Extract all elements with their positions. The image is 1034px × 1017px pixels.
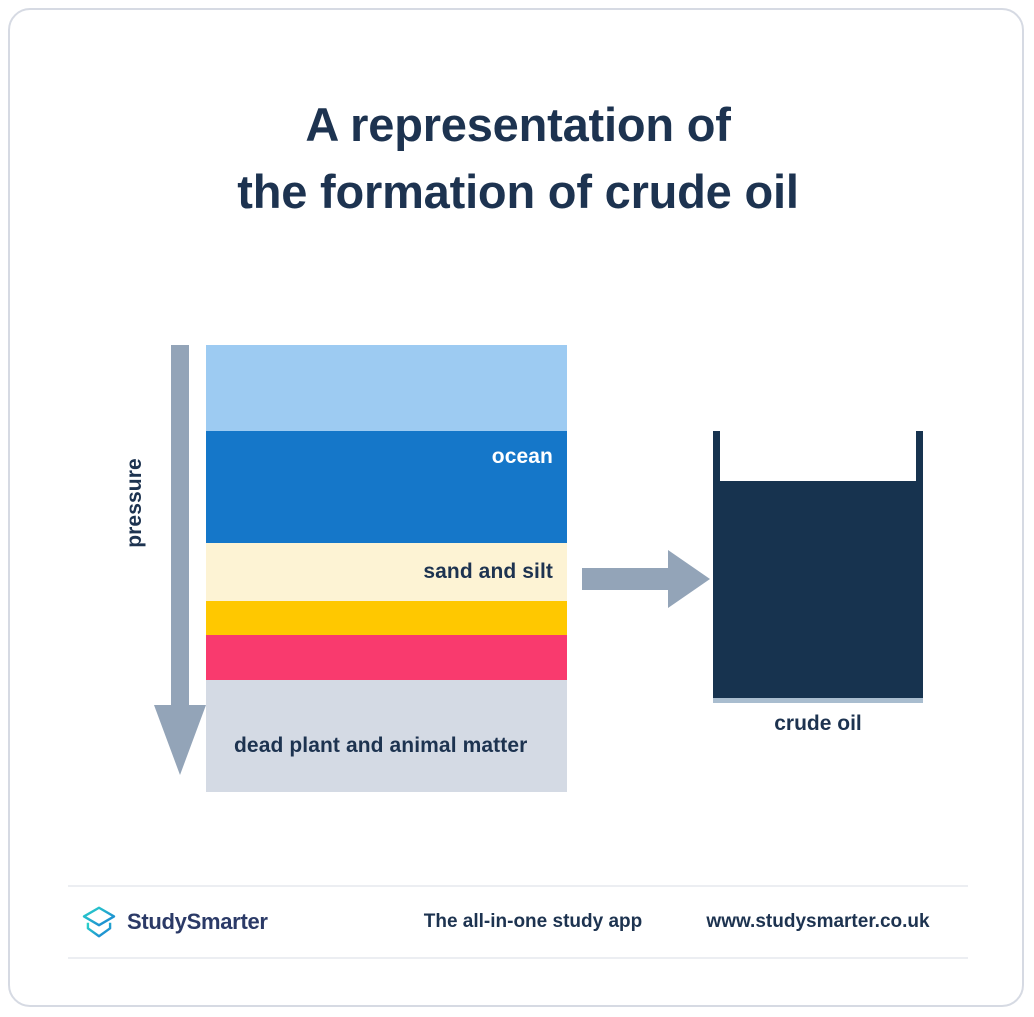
pressure-label: pressure [123,438,149,568]
layer-yellow-sediment [206,601,567,635]
sediment-column: oceansand and siltdead plant and animal … [206,345,567,792]
transfer-arrow-icon [582,550,710,608]
layer-label-dead-plant-and-animal-matter: dead plant and animal matter [234,734,527,758]
pressure-arrow-icon [154,345,206,775]
footer-website: www.studysmarter.co.uk [668,911,968,933]
footer-tagline: The all-in-one study app [398,911,668,933]
brand: StudySmarter [68,903,398,941]
beaker-caption: crude oil [663,712,973,736]
layer-sand-and-silt: sand and silt [206,543,567,601]
layer-label-sand-and-silt: sand and silt [423,560,553,584]
layer-ocean: ocean [206,431,567,543]
layer-dead-plant-and-animal-matter: dead plant and animal matter [206,680,567,792]
layer-pink-sediment [206,635,567,680]
layer-label-ocean: ocean [492,445,553,469]
crude-oil-beaker [713,431,923,711]
layer-upper-ocean [206,345,567,431]
diagram-card: A representation of the formation of cru… [8,8,1024,1007]
studysmarter-logo-icon [80,903,118,941]
footer: StudySmarter The all-in-one study app ww… [68,885,968,959]
brand-name: StudySmarter [127,909,268,935]
diagram-stage: pressure oceansand and siltdead plant an… [10,10,1026,1009]
